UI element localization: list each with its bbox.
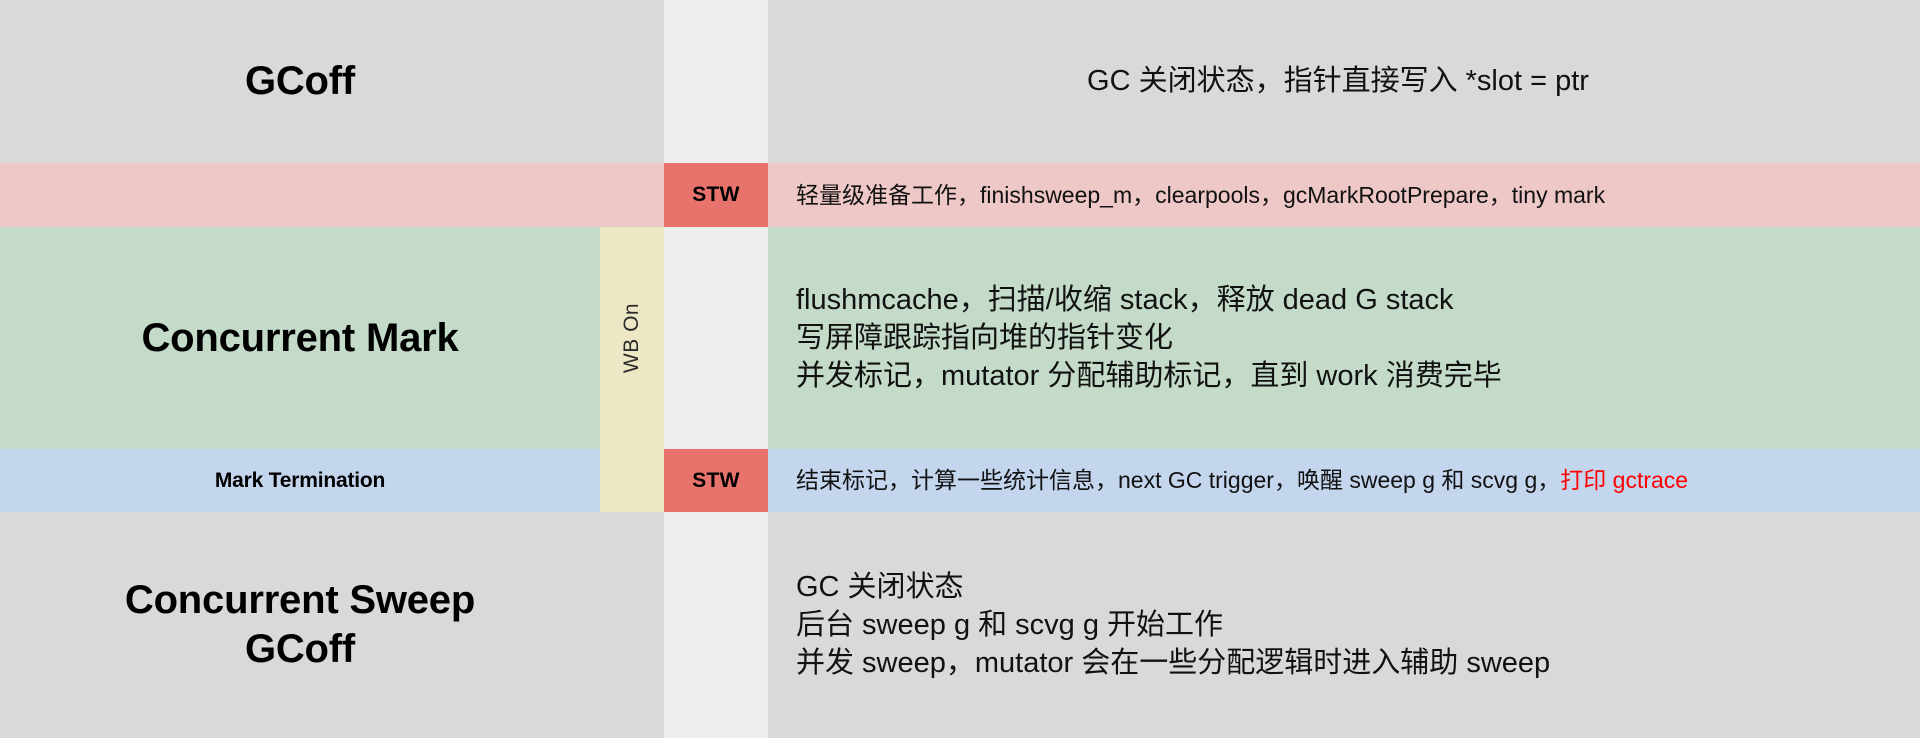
phase-row-stw-prepare: STW 轻量级准备工作，finishsweep_m，clearpools，gcM… <box>0 163 1920 227</box>
phase-row-concurrent-mark: Concurrent Mark WB On flushmcache，扫描/收缩 … <box>0 227 1920 449</box>
description-cell-concurrent-mark: flushmcache，扫描/收缩 stack，释放 dead G stack … <box>768 227 1920 449</box>
description-cell-stw-prepare: 轻量级准备工作，finishsweep_m，clearpools，gcMarkR… <box>768 163 1920 227</box>
description-line: 轻量级准备工作，finishsweep_m，clearpools，gcMarkR… <box>796 180 1908 210</box>
stw-label-stw-prepare: STW <box>692 183 740 207</box>
description-line: flushmcache，扫描/收缩 stack，释放 dead G stack <box>796 281 1908 319</box>
write-barrier-cell-concurrent-mark: WB On <box>600 227 664 449</box>
phase-cell-concurrent-mark: Concurrent Mark <box>0 227 600 449</box>
description-cell-mark-termination: 结束标记，计算一些统计信息，next GC trigger，唤醒 sweep g… <box>768 449 1920 512</box>
write-barrier-cell-mark-termination <box>600 449 664 512</box>
write-barrier-cell-stw-prepare <box>600 163 664 227</box>
gctrace-highlight: 打印 gctrace <box>1560 467 1688 493</box>
phase-title-concurrent-mark: Concurrent Mark <box>141 314 458 363</box>
description-line: 并发 sweep，mutator 会在一些分配逻辑时进入辅助 sweep <box>796 644 1908 682</box>
description-line: GC 关闭状态 <box>796 568 1908 606</box>
stw-cell-gcoff <box>664 0 768 163</box>
write-barrier-label: WB On <box>620 303 644 373</box>
phase-cell-gcoff: GCoff <box>0 0 600 163</box>
phase-cell-concurrent-sweep: Concurrent Sweep GCoff <box>0 512 600 738</box>
phase-title-mark-termination: Mark Termination <box>215 468 385 494</box>
phase-row-gcoff: GCoff GC 关闭状态，指针直接写入 *slot = ptr <box>0 0 1920 163</box>
description-text: 结束标记，计算一些统计信息，next GC trigger，唤醒 sweep g… <box>796 467 1560 493</box>
description-cell-concurrent-sweep: GC 关闭状态 后台 sweep g 和 scvg g 开始工作 并发 swee… <box>768 512 1920 738</box>
phase-title-gcoff: GCoff <box>245 57 355 106</box>
stw-cell-mark-termination: STW <box>664 449 768 512</box>
description-line: 结束标记，计算一些统计信息，next GC trigger，唤醒 sweep g… <box>796 465 1908 495</box>
phase-title-concurrent-sweep: Concurrent Sweep GCoff <box>125 576 475 674</box>
description-line: 后台 sweep g 和 scvg g 开始工作 <box>796 606 1908 644</box>
phase-row-concurrent-sweep: Concurrent Sweep GCoff GC 关闭状态 后台 sweep … <box>0 512 1920 738</box>
phase-row-mark-termination: Mark Termination STW 结束标记，计算一些统计信息，next … <box>0 449 1920 512</box>
stw-cell-concurrent-mark <box>664 227 768 449</box>
stw-label-mark-termination: STW <box>692 469 740 493</box>
phase-cell-mark-termination: Mark Termination <box>0 449 600 512</box>
phase-title-line-2: GCoff <box>125 625 475 674</box>
description-cell-gcoff: GC 关闭状态，指针直接写入 *slot = ptr <box>768 0 1920 163</box>
phase-title-line-1: Concurrent Sweep <box>125 576 475 625</box>
description-line: 写屏障跟踪指向堆的指针变化 <box>796 319 1908 357</box>
gc-phase-diagram: GCoff GC 关闭状态，指针直接写入 *slot = ptr STW 轻量级… <box>0 0 1920 738</box>
description-line: 并发标记，mutator 分配辅助标记，直到 work 消费完毕 <box>796 357 1908 395</box>
stw-cell-concurrent-sweep <box>664 512 768 738</box>
description-line: GC 关闭状态，指针直接写入 *slot = ptr <box>1087 62 1589 100</box>
phase-cell-stw-prepare <box>0 163 600 227</box>
stw-cell-stw-prepare: STW <box>664 163 768 227</box>
